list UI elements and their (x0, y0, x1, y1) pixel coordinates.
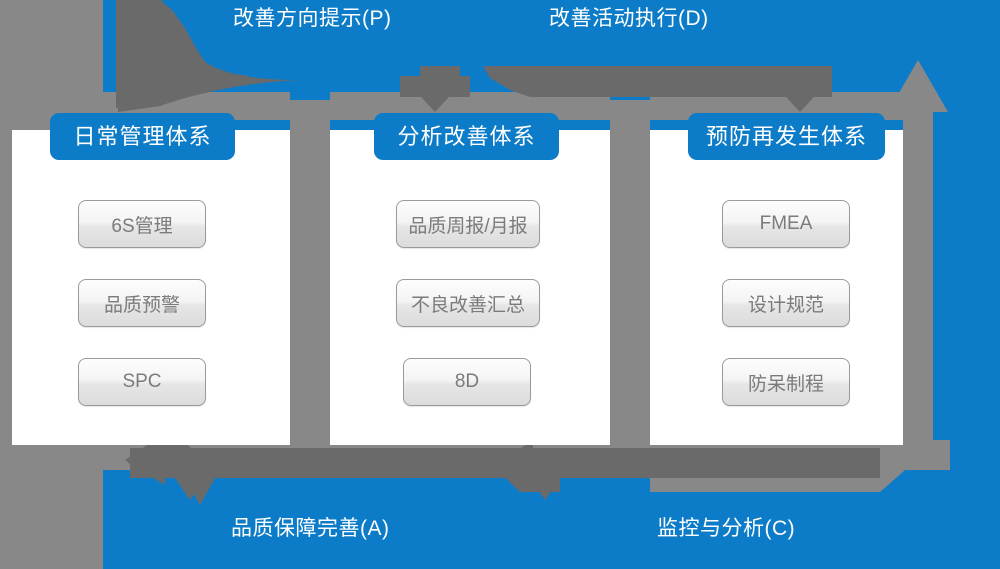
button-defect-improvement-summary[interactable]: 不良改善汇总 (396, 279, 540, 327)
flow-label-p: 改善方向提示(P) (233, 8, 392, 29)
panel-title-daily-management: 日常管理体系 (50, 113, 235, 160)
flow-label-a: 品质保障完善(A) (231, 518, 390, 539)
panel-title-prevent-recurrence: 预防再发生体系 (688, 113, 885, 160)
button-quality-alert[interactable]: 品质预警 (78, 279, 206, 327)
diagram-canvas: 改善方向提示(P) 改善活动执行(D) 品质保障完善(A) 监控与分析(C) 日… (0, 0, 1000, 569)
panel-title-analysis-improvement: 分析改善体系 (374, 113, 559, 160)
button-design-specification[interactable]: 设计规范 (722, 279, 850, 327)
button-8d[interactable]: 8D (403, 358, 531, 406)
button-mistake-proofing-process[interactable]: 防呆制程 (722, 358, 850, 406)
button-6s-management[interactable]: 6S管理 (78, 200, 206, 248)
button-quality-weekly-monthly-report[interactable]: 品质周报/月报 (396, 200, 540, 248)
button-fmea[interactable]: FMEA (722, 200, 850, 248)
flow-label-d: 改善活动执行(D) (549, 8, 709, 29)
flow-label-c: 监控与分析(C) (657, 518, 795, 539)
button-spc[interactable]: SPC (78, 358, 206, 406)
